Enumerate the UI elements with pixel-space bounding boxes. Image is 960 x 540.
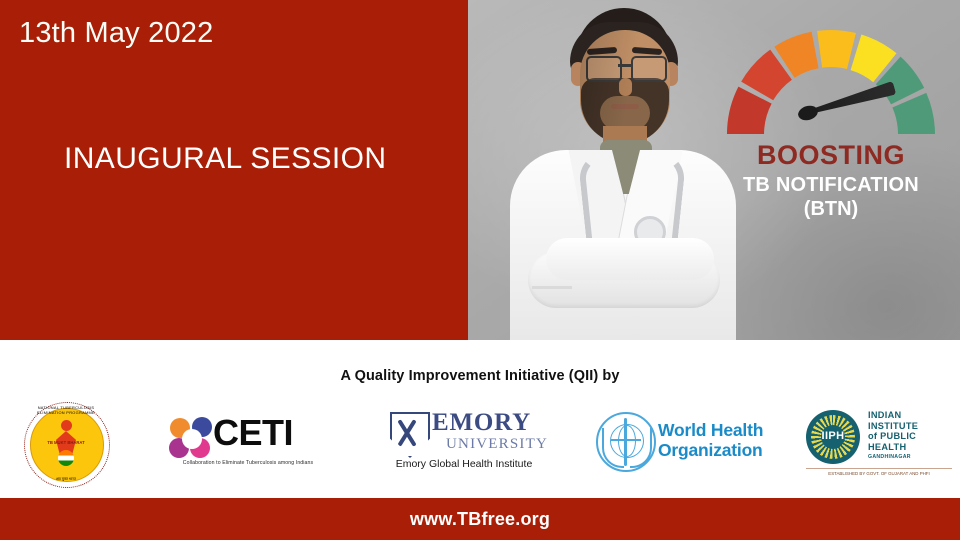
doctor-forearm-upper [546, 238, 714, 280]
speedometer-gauge-icon [720, 22, 942, 140]
ceti-tagline: Collaboration to Eliminate Tuberculosis … [169, 460, 327, 466]
who-asclepius-rod [624, 418, 627, 466]
emory-wordmark: EMORY [432, 410, 531, 436]
red-title-panel: 13th May 2022 INAUGURAL SESSION [0, 0, 468, 340]
iiph-full-name: INDIAN INSTITUTE of PUBLIC HEALTH [868, 410, 918, 452]
partners-heading: A Quality Improvement Initiative (QII) b… [0, 368, 960, 384]
ceti-wordmark: CETI [213, 412, 293, 454]
ntep-tricolor-emblem [58, 450, 74, 466]
ceti-center-hole [182, 429, 202, 449]
iiph-city: GANDHINAGAR [868, 454, 911, 460]
logo-iiph: IIPH INDIAN INSTITUTE of PUBLIC HEALTH G… [806, 406, 952, 482]
partner-logos-row: NATIONAL TUBERCULOSIS ELIMINATION PROGRA… [0, 398, 960, 490]
doctor-coat-pocket [532, 286, 572, 289]
who-wordmark: World Health Organization [658, 420, 763, 460]
iiph-name-line3: of PUBLIC [868, 431, 916, 441]
doctor-figure-illustration [488, 0, 758, 340]
iiph-name-line1: INDIAN [868, 410, 901, 420]
btn-campaign-logo: BOOSTING TB NOTIFICATION (BTN) [720, 22, 950, 237]
ntep-bottom-text: क्षय मुक्त भारत [32, 477, 100, 482]
doctor-photo: BOOSTING TB NOTIFICATION (BTN) [468, 0, 960, 340]
campaign-word-boosting: BOOSTING [720, 140, 942, 171]
who-globe-meridian [618, 425, 636, 457]
ceti-people-circle-icon [168, 416, 216, 462]
campaign-line-btn: (BTN) [720, 198, 942, 221]
logo-who: World Health Organization [596, 412, 766, 474]
slide-session-title: INAUGURAL SESSION [64, 141, 386, 177]
emory-institute-name: Emory Global Health Institute [388, 458, 540, 470]
gauge-needle [798, 106, 898, 120]
iiph-name-line2: INSTITUTE [868, 421, 918, 431]
slide-date: 13th May 2022 [19, 16, 213, 50]
campaign-line-tb-notification: TB NOTIFICATION [720, 174, 942, 197]
who-wordmark-line1: World Health [658, 420, 763, 440]
iiph-abbreviation: IIPH [806, 430, 860, 442]
ntep-center-text: TB MUKT BHARAT [44, 440, 88, 445]
iiph-established-note: ESTABLISHED BY GOVT. OF GUJARAT AND PHFI [806, 468, 952, 476]
iiph-name-line4: HEALTH [868, 442, 906, 452]
slide-top-band: 13th May 2022 INAUGURAL SESSION [0, 0, 960, 340]
who-emblem-icon [596, 412, 656, 472]
logo-ceti: CETI Collaboration to Eliminate Tubercul… [168, 410, 328, 478]
who-wordmark-line2: Organization [658, 440, 763, 460]
presentation-slide: 13th May 2022 INAUGURAL SESSION [0, 0, 960, 540]
logo-emory: EMORY UNIVERSITY Emory Global Health Ins… [388, 408, 540, 480]
logo-ntep: NATIONAL TUBERCULOSIS ELIMINATION PROGRA… [22, 402, 110, 486]
emory-subword: UNIVERSITY [446, 436, 548, 453]
footer-website-url[interactable]: www.TBfree.org [410, 509, 550, 530]
ntep-figure-head [61, 420, 72, 431]
partners-band: A Quality Improvement Initiative (QII) b… [0, 340, 960, 498]
ntep-ring-text: NATIONAL TUBERCULOSIS ELIMINATION PROGRA… [32, 405, 100, 415]
footer-bar: www.TBfree.org [0, 498, 960, 540]
